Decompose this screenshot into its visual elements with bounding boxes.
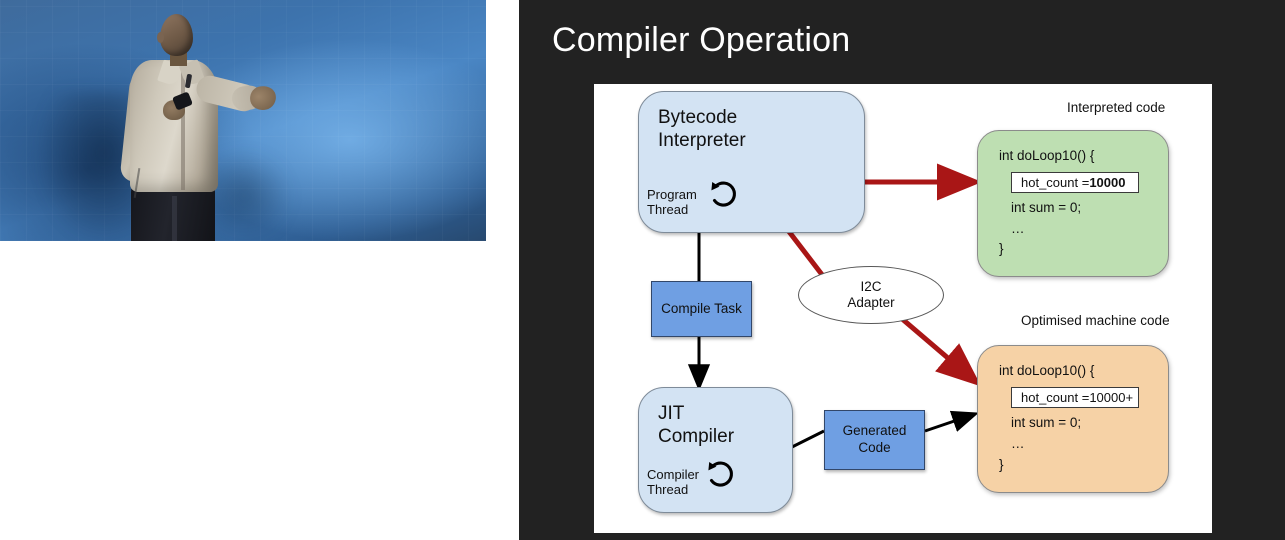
- circular-arrow-icon: [706, 178, 740, 212]
- compiler-thread-label: Compiler Thread: [647, 467, 699, 498]
- hot-count-label: hot_count =: [1021, 390, 1089, 405]
- node-compile-task[interactable]: Compile Task: [651, 281, 752, 337]
- interpreted-code-caption: Interpreted code: [1067, 100, 1165, 115]
- node-generated-code[interactable]: Generated Code: [824, 410, 925, 470]
- hot-count-value: 10000: [1089, 175, 1125, 190]
- page-title: Compiler Operation: [552, 21, 850, 60]
- hot-count-label: hot_count =: [1021, 175, 1089, 190]
- optimised-code-caption: Optimised machine code: [1021, 313, 1170, 328]
- slide-panel: Compiler Operation: [519, 0, 1285, 540]
- circular-arrow-icon: [703, 458, 737, 492]
- code-line-sum: int sum = 0;: [1011, 415, 1081, 430]
- arrow-generated-code-to-optimised: [925, 414, 975, 431]
- speaker-video[interactable]: [0, 0, 486, 241]
- program-thread-label: Program Thread: [647, 187, 697, 218]
- code-line-ellipsis: …: [1011, 436, 1025, 451]
- speaker-ear: [157, 32, 164, 43]
- node-bytecode-interpreter[interactable]: Bytecode Interpreter Program Thread: [638, 91, 865, 233]
- code-card-interpreted[interactable]: int doLoop10() { hot_count = 10000 int s…: [977, 130, 1169, 277]
- speaker-shirt-placket: [181, 72, 185, 190]
- code-line-ellipsis: …: [1011, 221, 1025, 236]
- node-compile-task-label: Compile Task: [661, 301, 742, 318]
- diagram-canvas: Bytecode Interpreter Program Thread Comp…: [594, 84, 1212, 533]
- code-line-sum: int sum = 0;: [1011, 200, 1081, 215]
- connector-jit-to-generated-code: [792, 431, 824, 447]
- speaker-leg-seam: [172, 196, 177, 241]
- node-jit-compiler-title: JIT Compiler: [658, 402, 734, 448]
- code-line-open: int doLoop10() {: [999, 363, 1094, 378]
- hot-count-value: 10000+: [1089, 390, 1133, 405]
- node-bytecode-interpreter-title: Bytecode Interpreter: [658, 106, 746, 152]
- code-line-close: }: [999, 241, 1004, 256]
- code-line-close: }: [999, 457, 1004, 472]
- code-line-open: int doLoop10() {: [999, 148, 1094, 163]
- code-card-optimised[interactable]: int doLoop10() { hot_count = 10000+ int …: [977, 345, 1169, 493]
- speaker-head: [160, 14, 193, 56]
- node-jit-compiler[interactable]: JIT Compiler Compiler Thread: [638, 387, 793, 513]
- hot-count-field-interpreted[interactable]: hot_count = 10000: [1011, 172, 1139, 193]
- hot-count-field-optimised[interactable]: hot_count = 10000+: [1011, 387, 1139, 408]
- screen: Compiler Operation: [0, 0, 1285, 540]
- node-i2c-adapter-label: I2C Adapter: [847, 279, 894, 311]
- node-generated-code-label: Generated Code: [843, 423, 907, 456]
- node-i2c-adapter[interactable]: I2C Adapter: [798, 266, 944, 324]
